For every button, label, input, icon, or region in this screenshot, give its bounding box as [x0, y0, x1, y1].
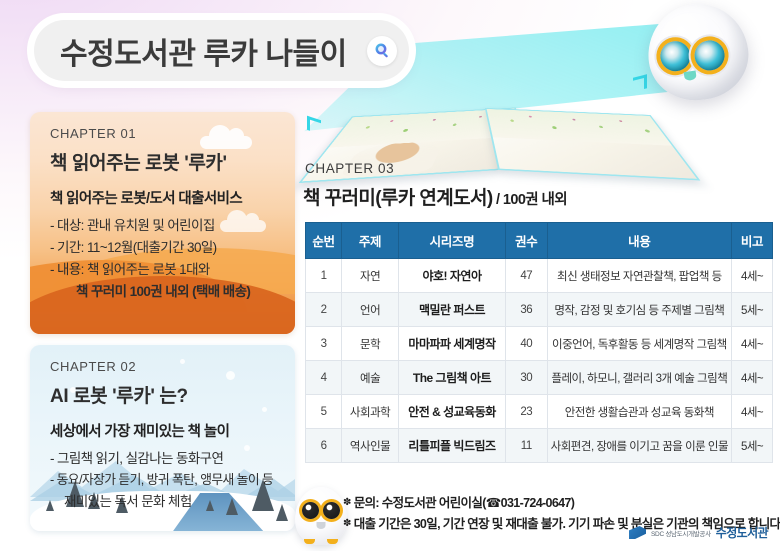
- cell-series: The 그림책 아트: [399, 361, 506, 395]
- chapter-02-bullet: 재미있는 독서 문화 체험: [50, 491, 277, 513]
- sdc-logo-mark-icon: [629, 526, 646, 539]
- scan-corner-marker-icon: [307, 116, 321, 135]
- cell-topic: 역사인물: [342, 429, 399, 463]
- cell-no: 4: [306, 361, 342, 395]
- col-header-note: 비고: [732, 223, 773, 259]
- table-row: 4 예술 The 그림책 아트 30 플레이, 하모니, 갤러리 3개 예술 그…: [306, 361, 773, 395]
- note-mark-icon: ✽: [343, 497, 351, 508]
- cell-note: 4세~: [732, 395, 773, 429]
- book-flower-art: [487, 109, 672, 146]
- cell-desc: 안전한 생활습관과 성교육 동화책: [547, 395, 731, 429]
- owl-mascot-icon: [295, 487, 347, 545]
- logo-library-name: 수정도서관: [716, 524, 768, 541]
- col-header-topic: 주제: [342, 223, 399, 259]
- cell-series: 리틀피플 빅드림즈: [399, 429, 506, 463]
- owl-beak: [317, 522, 326, 529]
- cell-no: 3: [306, 327, 342, 361]
- cell-desc: 명작, 감정 및 호기심 등 주제별 그림책: [547, 293, 731, 327]
- cell-count: 47: [505, 259, 547, 293]
- chapter-03-title-main: 책 꾸러미(루카 연계도서): [303, 188, 493, 209]
- owl-eye-right: [323, 502, 340, 519]
- chapter-03-title: 책 꾸러미(루카 연계도서) / 100권 내외: [303, 183, 567, 210]
- chapter-01-content: CHAPTER 01 책 읽어주는 로봇 '루카' 책 읽어주는 로봇/도서 대…: [30, 112, 295, 302]
- chapter-03-label: CHAPTER 03: [305, 161, 394, 176]
- chapter-02-content: CHAPTER 02 AI 로봇 '루카' 는? 세상에서 가장 재미있는 책 …: [30, 345, 295, 512]
- chapter-01-bullet: - 기간: 11~12월(대출기간 30일): [50, 237, 277, 259]
- chapter-01-title: 책 읽어주는 로봇 '루카': [50, 148, 277, 175]
- cell-series: 안전 & 성교육동화: [399, 395, 506, 429]
- chapter-02-card: CHAPTER 02 AI 로봇 '루카' 는? 세상에서 가장 재미있는 책 …: [30, 345, 295, 531]
- poster-root: 수정도서관 루카 나들이 CHAPTER 01: [0, 0, 780, 551]
- cell-no: 6: [306, 429, 342, 463]
- owl-eye-left: [302, 502, 319, 519]
- cell-note: 5세~: [732, 429, 773, 463]
- chapter-01-card: CHAPTER 01 책 읽어주는 로봇 '루카' 책 읽어주는 로봇/도서 대…: [30, 112, 295, 334]
- owl-foot-right: [327, 539, 338, 544]
- table-row: 5 사회과학 안전 & 성교육동화 23 안전한 생활습관과 성교육 동화책 4…: [306, 395, 773, 429]
- table-header-row: 순번 주제 시리즈명 권수 내용 비고: [306, 223, 773, 259]
- cell-desc: 최신 생태정보 자연관찰책, 팝업책 등: [547, 259, 731, 293]
- col-header-count: 권수: [505, 223, 547, 259]
- cell-no: 5: [306, 395, 342, 429]
- luka-eye-right: [693, 38, 727, 72]
- table-row: 6 역사인물 리틀피플 빅드림즈 11 사회편견, 장애를 이기고 꿈을 이룬 …: [306, 429, 773, 463]
- page-title-bar: 수정도서관 루카 나들이: [34, 20, 409, 81]
- cell-series: 마마파파 세계명작: [399, 327, 506, 361]
- luka-beak: [684, 71, 697, 82]
- chapter-01-bullet-indent: 책 꾸러미 100권 내외 (택배 배송): [50, 281, 277, 303]
- chapter-01-bullet: - 내용: 책 읽어주는 로봇 1대와: [50, 259, 277, 281]
- chapter-02-label: CHAPTER 02: [50, 359, 277, 374]
- cell-topic: 문학: [342, 327, 399, 361]
- cell-note: 5세~: [732, 293, 773, 327]
- cell-topic: 사회과학: [342, 395, 399, 429]
- owl-foot-left: [304, 539, 315, 544]
- cell-desc: 플레이, 하모니, 갤러리 3개 예술 그림책: [547, 361, 731, 395]
- col-header-desc: 내용: [547, 223, 731, 259]
- chapter-01-label: CHAPTER 01: [50, 126, 277, 141]
- cell-note: 4세~: [732, 361, 773, 395]
- cell-series: 맥밀란 퍼스트: [399, 293, 506, 327]
- organization-logo: SDC 성남도시개발공사 수정도서관: [629, 524, 768, 541]
- chapter-03-title-suffix: / 100권 내외: [493, 192, 567, 208]
- cell-desc: 이중언어, 독후활동 등 세계명작 그림책: [547, 327, 731, 361]
- cell-count: 40: [505, 327, 547, 361]
- chapter-01-bullet: - 대상: 관내 유치원 및 어린이집: [50, 215, 277, 237]
- cell-topic: 예술: [342, 361, 399, 395]
- table-row: 3 문학 마마파파 세계명작 40 이중언어, 독후활동 등 세계명작 그림책 …: [306, 327, 773, 361]
- cell-topic: 언어: [342, 293, 399, 327]
- logo-sdc-text: SDC 성남도시개발공사: [651, 528, 711, 538]
- footer-note-contact: ✽문의: 수정도서관 어린이실(☎031-724-0647): [343, 492, 574, 511]
- book-bundle-table: 순번 주제 시리즈명 권수 내용 비고 1 자연 야호! 자연아 47 최신 생…: [305, 222, 773, 463]
- search-icon[interactable]: [367, 36, 397, 66]
- page-title: 수정도서관 루카 나들이: [60, 29, 347, 73]
- cell-series: 야호! 자연아: [399, 259, 506, 293]
- picture-book-image: [305, 70, 695, 170]
- cell-count: 23: [505, 395, 547, 429]
- table-row: 1 자연 야호! 자연아 47 최신 생태정보 자연관찰책, 팝업책 등 4세~: [306, 259, 773, 293]
- book-right-page: [485, 108, 701, 181]
- chapter-01-subtitle: 책 읽어주는 로봇/도서 대출서비스: [50, 187, 277, 208]
- cell-note: 4세~: [732, 259, 773, 293]
- chapter-02-bullet: - 동요/자장가 듣기, 방귀 폭탄, 앵무새 놀이 등: [50, 470, 277, 491]
- col-header-no: 순번: [306, 223, 342, 259]
- chapter-02-title: AI 로봇 '루카' 는?: [50, 381, 277, 408]
- cell-count: 30: [505, 361, 547, 395]
- scan-corner-marker-icon: [633, 74, 647, 91]
- cell-count: 11: [505, 429, 547, 463]
- cell-no: 2: [306, 293, 342, 327]
- luka-eye-left: [658, 39, 692, 73]
- note-mark-icon: ✽: [343, 518, 351, 529]
- table-row: 2 언어 맥밀란 퍼스트 36 명작, 감정 및 호기심 등 주제별 그림책 5…: [306, 293, 773, 327]
- cell-no: 1: [306, 259, 342, 293]
- chapter-02-bullet: - 그림책 읽기, 실감나는 동화구연: [50, 448, 277, 470]
- cell-desc: 사회편견, 장애를 이기고 꿈을 이룬 인물: [547, 429, 731, 463]
- col-header-series: 시리즈명: [399, 223, 506, 259]
- footer-note-contact-text: 문의: 수정도서관 어린이실(☎031-724-0647): [354, 496, 575, 510]
- cell-note: 4세~: [732, 327, 773, 361]
- cell-count: 36: [505, 293, 547, 327]
- chapter-02-subtitle: 세상에서 가장 재미있는 책 놀이: [50, 420, 277, 441]
- cell-topic: 자연: [342, 259, 399, 293]
